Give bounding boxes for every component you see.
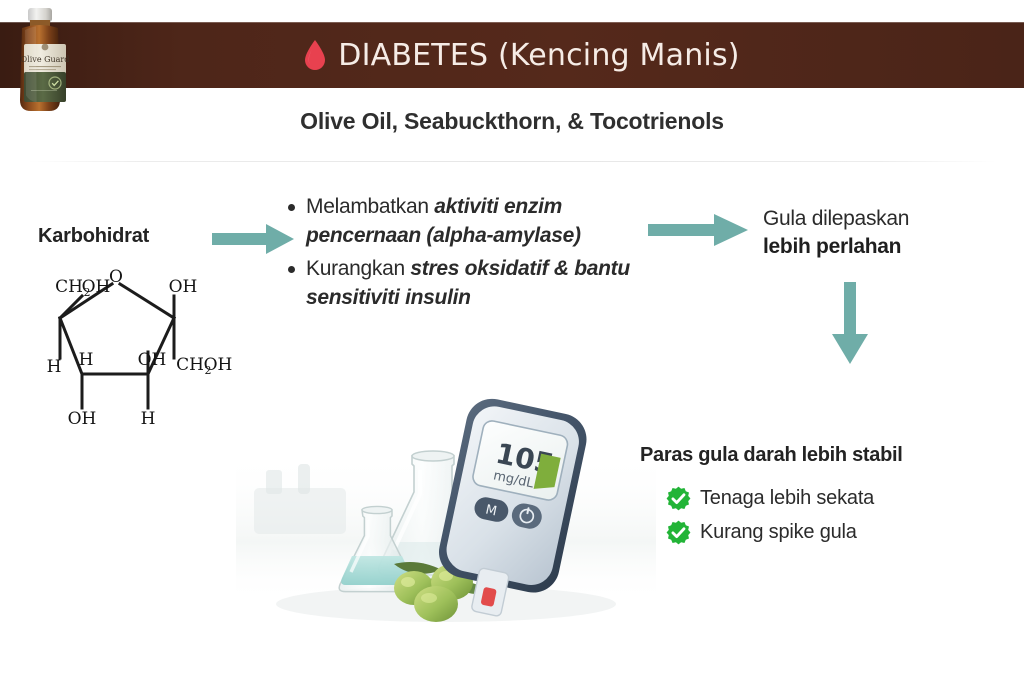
output-line-2: lebih perlahan (763, 233, 1013, 261)
list-item: Kurangkan stres oksidatif & bantu sensit… (288, 254, 660, 312)
header-banner: DIABETES (Kencing Manis) (0, 22, 1024, 88)
svg-text:H: H (79, 350, 94, 370)
page-title: DIABETES (Kencing Manis) (338, 38, 739, 73)
karbohidrat-label: Karbohidrat (38, 225, 149, 248)
arrow-right-icon (212, 222, 294, 256)
section-divider (28, 161, 996, 162)
list-item: Melambatkan aktiviti enzim pencernaan (a… (288, 192, 660, 250)
benefit-label: Kurang spike gula (700, 521, 857, 544)
output-line-1: Gula dilepaskan (763, 205, 1013, 233)
bullet-text: Melambatkan aktiviti enzim pencernaan (a… (306, 192, 660, 250)
svg-text:OH: OH (169, 277, 198, 297)
banner-content: DIABETES (Kencing Manis) (304, 38, 739, 73)
svg-text:O: O (109, 267, 123, 287)
bullet-plain-text: Kurangkan (306, 257, 410, 280)
list-item: Kurang spike gula (666, 520, 874, 545)
svg-text:CH: CH (55, 277, 83, 297)
list-item: Tenaga lebih sekata (666, 486, 874, 511)
svg-text:H: H (47, 357, 62, 377)
svg-text:OH: OH (68, 409, 97, 428)
blood-drop-icon (304, 40, 326, 70)
check-badge-icon (666, 520, 691, 545)
svg-text:2: 2 (205, 364, 212, 377)
arrow-right-icon (648, 212, 748, 248)
bullet-dot-icon (288, 266, 295, 273)
svg-text:2: 2 (84, 286, 91, 299)
product-bottle: Olive Guard (8, 6, 82, 114)
bullet-plain-text: Melambatkan (306, 195, 434, 218)
lab-scene-illustration: 105 mg/dL M (236, 392, 656, 642)
subtitle: Olive Oil, Seabuckthorn, & Tocotrienols (0, 108, 1024, 135)
supplement-bottle-icon: Olive Guard (8, 6, 82, 114)
benefit-label: Tenaga lebih sekata (700, 487, 874, 510)
result-heading: Paras gula darah lebih stabil (640, 444, 903, 467)
svg-text:H: H (141, 409, 156, 428)
mechanism-bullet-list: Melambatkan aktiviti enzim pencernaan (a… (288, 192, 660, 316)
check-badge-icon (666, 486, 691, 511)
svg-text:OH: OH (138, 350, 167, 370)
bullet-text: Kurangkan stres oksidatif & bantu sensit… (306, 254, 660, 312)
sugar-molecule-diagram: O CH OH 2 OH H H OH CH OH 2 OH H (24, 262, 240, 428)
bullet-dot-icon (288, 204, 295, 211)
svg-text:CH: CH (176, 355, 204, 375)
arrow-down-icon (830, 282, 870, 364)
benefit-list: Tenaga lebih sekata Kurang spike gula (666, 486, 874, 554)
output-text-block: Gula dilepaskan lebih perlahan (763, 205, 1013, 261)
